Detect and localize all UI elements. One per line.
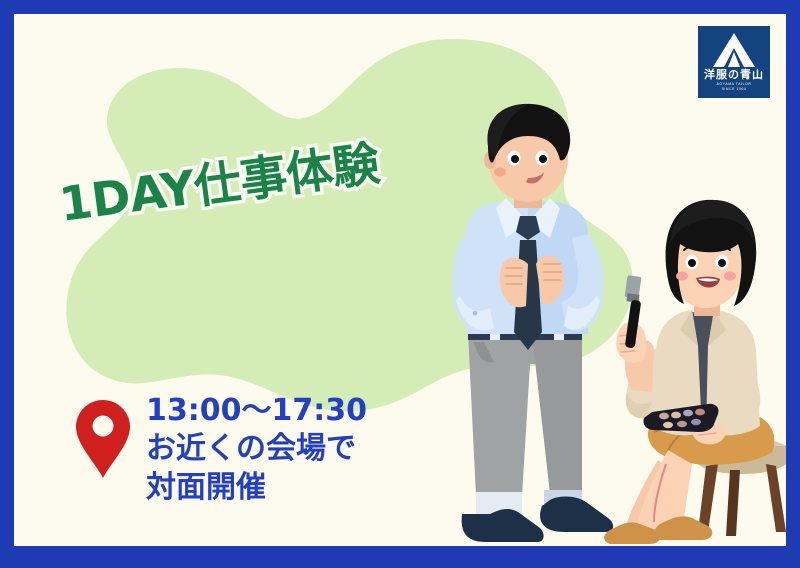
event-info-block: 13:00〜17:30 お近くの会場で 対面開催 (76, 392, 367, 507)
logo-brand-name: 洋服の青山 (704, 69, 764, 80)
event-time-line: 13:00〜17:30 (146, 392, 367, 430)
event-venue-line: お近くの会場で (146, 430, 367, 468)
headline: 1DAY仕事体験 (57, 128, 484, 262)
aoyama-logo: 洋服の青山 AOYAMA TAILOR SINCE 1964 (698, 26, 770, 98)
logo-tagline-line2: SINCE 1964 (722, 87, 747, 91)
woman-with-makeup-brush-illustration (596, 250, 786, 546)
event-info-lines: 13:00〜17:30 お近くの会場で 対面開催 (146, 392, 367, 507)
poster-canvas: 1DAY仕事体験 (14, 14, 786, 546)
event-format-line: 対面開催 (146, 469, 367, 507)
poster-root: 1DAY仕事体験 (0, 0, 800, 568)
logo-tagline: AOYAMA TAILOR SINCE 1964 (717, 82, 752, 92)
mountain-a-mark-icon (713, 33, 755, 67)
headline-text: 1DAY仕事体験 (57, 128, 480, 229)
map-pin-icon (76, 400, 130, 478)
logo-tagline-line1: AOYAMA TAILOR (717, 82, 752, 86)
man-tying-necktie-illustration (432, 164, 622, 546)
